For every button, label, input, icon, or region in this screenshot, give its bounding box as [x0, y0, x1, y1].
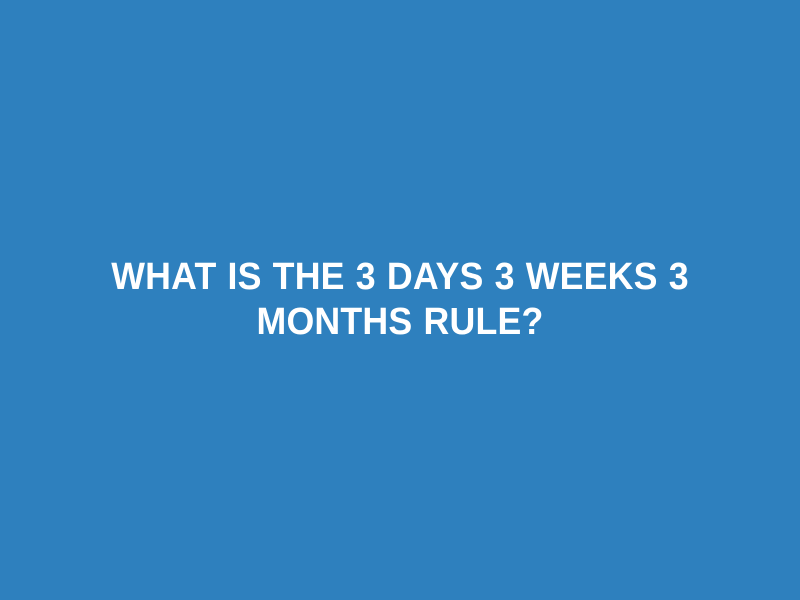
page-title: WHAT IS THE 3 DAYS 3 WEEKS 3 MONTHS RULE… — [90, 255, 710, 345]
hero-card: WHAT IS THE 3 DAYS 3 WEEKS 3 MONTHS RULE… — [0, 0, 800, 600]
title-block: WHAT IS THE 3 DAYS 3 WEEKS 3 MONTHS RULE… — [50, 255, 750, 345]
